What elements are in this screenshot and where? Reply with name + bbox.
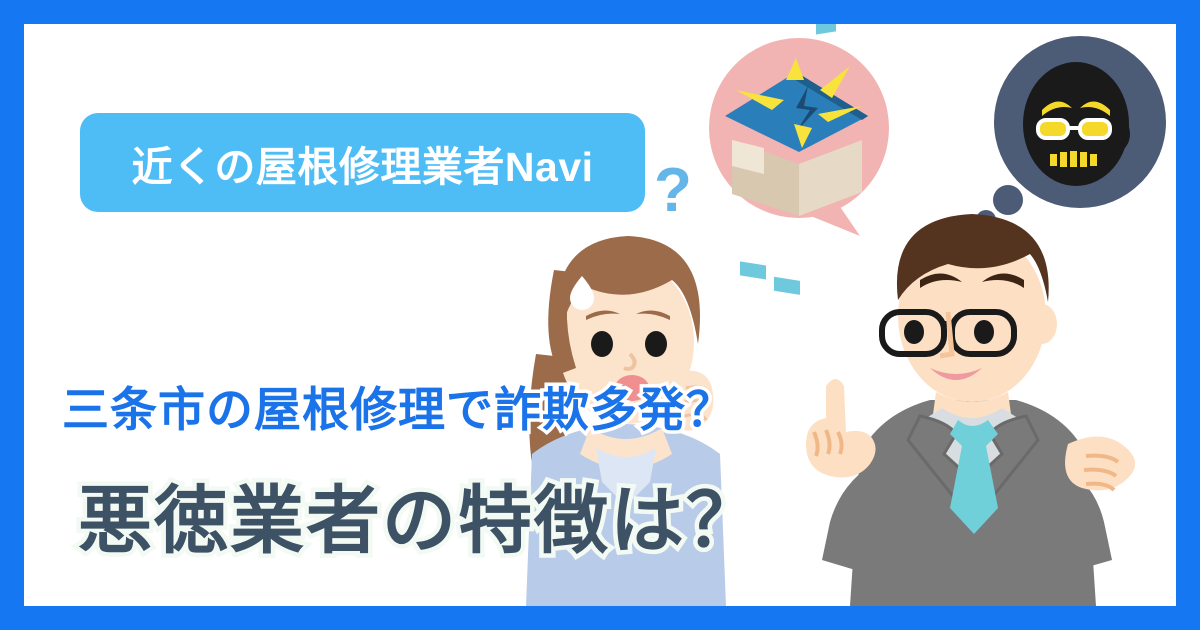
site-name-badge[interactable]: 近くの屋根修理業者Navi xyxy=(80,113,645,212)
question-mark-decoration: ? xyxy=(654,160,692,222)
pointing-businessman xyxy=(806,214,1135,606)
content-canvas: 近くの屋根修理業者Navi ? 三条市の屋根修理で詐欺多発？ 悪徳業者の特徴は？ xyxy=(24,24,1176,606)
man-hand-pointing xyxy=(806,379,876,478)
man-ear xyxy=(1027,304,1057,344)
man-art-layer xyxy=(24,24,1176,606)
man-eye-left xyxy=(904,320,924,344)
site-name-label: 近くの屋根修理業者Navi xyxy=(131,133,593,193)
page-frame: 近くの屋根修理業者Navi ? 三条市の屋根修理で詐欺多発？ 悪徳業者の特徴は？ xyxy=(0,0,1200,630)
man-eye-right xyxy=(974,320,994,344)
